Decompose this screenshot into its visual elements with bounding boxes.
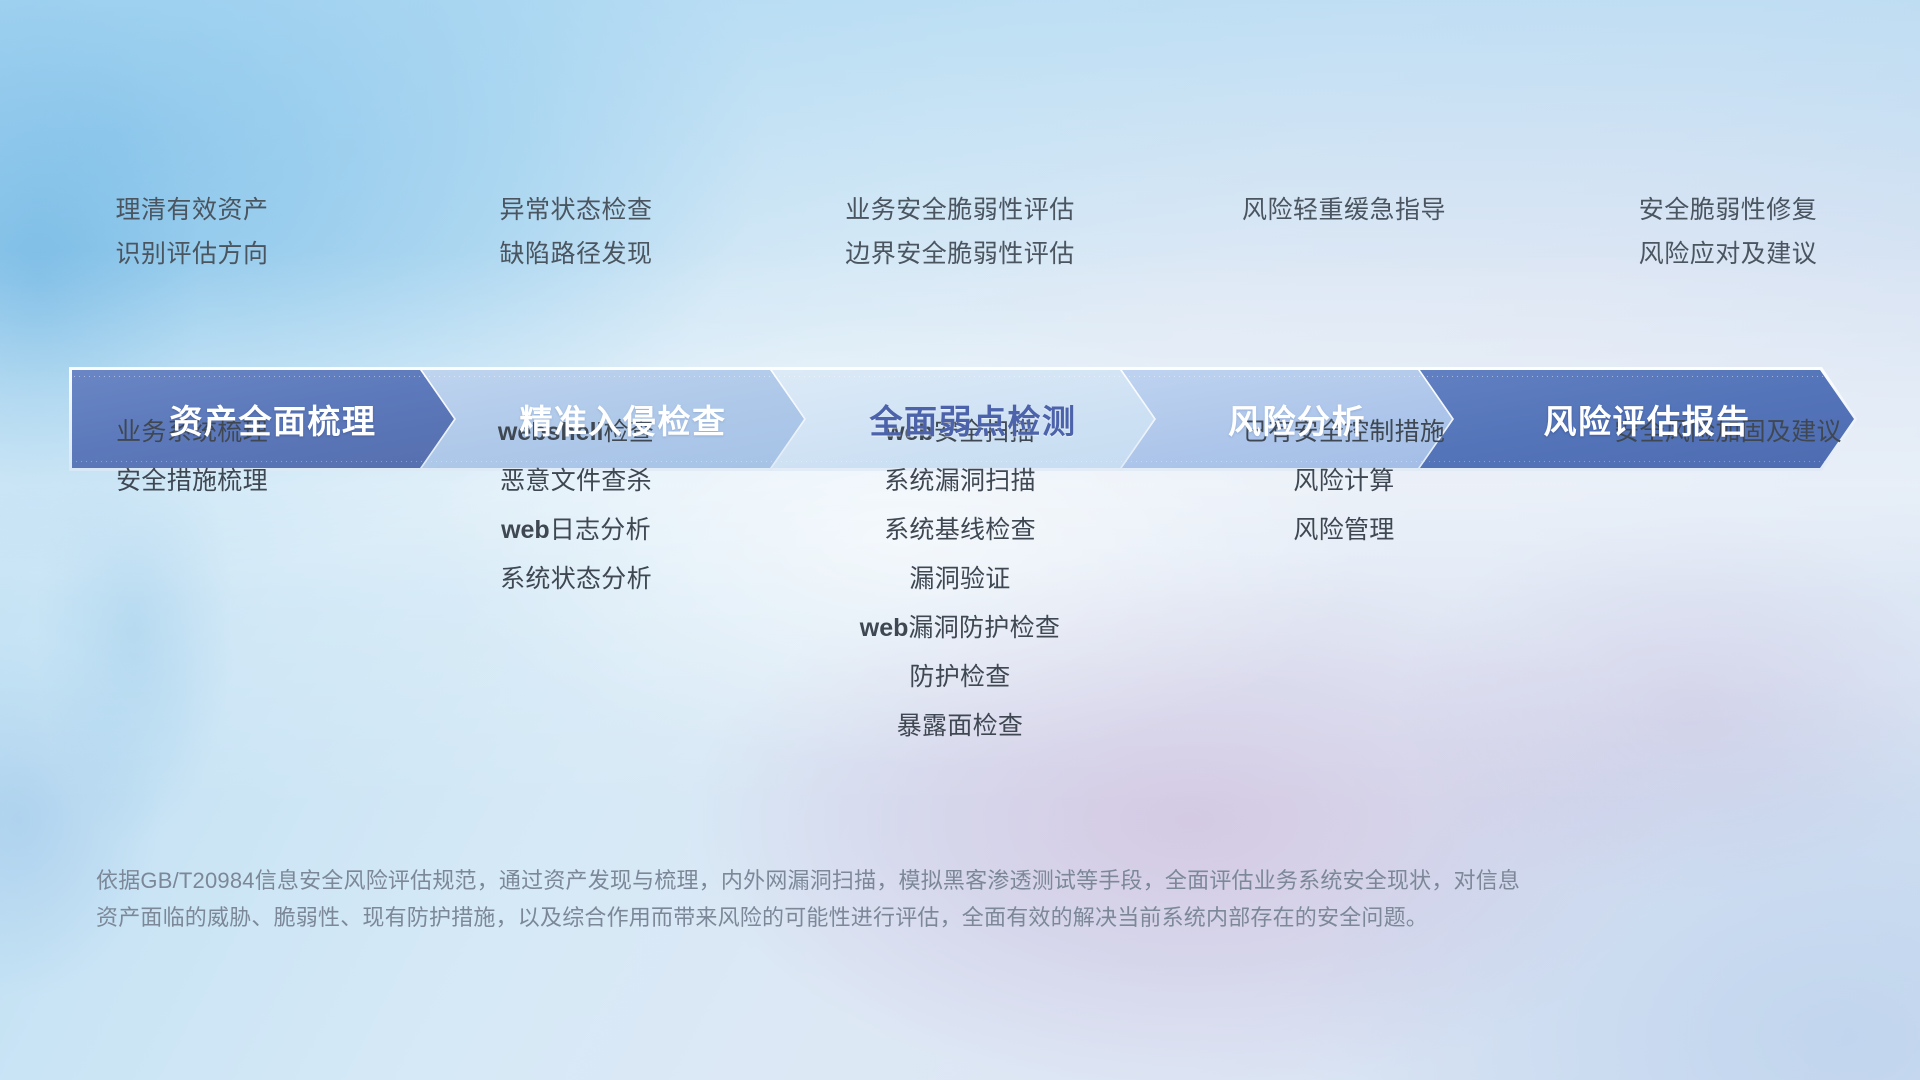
activity-text: 暴露面检查	[768, 702, 1152, 751]
activity-text-cjk: 恶意文件查杀	[500, 467, 652, 495]
activity-text-cjk: 系统漏洞扫描	[884, 467, 1036, 495]
process-step-4-label: 风险分析	[1208, 395, 1366, 443]
outcome-text: 安全脆弱性修复	[1536, 188, 1920, 232]
process-step-5-label: 风险评估报告	[1524, 395, 1751, 443]
activity-text-cjk: 风险计算	[1293, 467, 1394, 495]
activity-text: 风险管理	[1152, 506, 1536, 555]
process-step-2[interactable]: 精准入侵检查	[422, 370, 804, 468]
activity-text-cjk: 漏洞防护检查	[908, 614, 1060, 642]
activity-text: 系统基线检查	[768, 506, 1152, 555]
activity-text-cjk: 暴露面检查	[897, 712, 1024, 740]
process-step-5[interactable]: 风险评估报告	[1420, 370, 1854, 468]
activity-text: 防护检查	[768, 653, 1152, 702]
activity-text-latin: web	[860, 614, 909, 642]
activity-text-cjk: 安全措施梳理	[116, 467, 268, 495]
footer-line-2: 资产面临的威胁、脆弱性、现有防护措施，以及综合作用而带来风险的可能性进行评估，全…	[96, 899, 1596, 936]
outcome-text: 业务安全脆弱性评估	[768, 188, 1152, 232]
process-chevron-band: 资产全面梳理 精准入侵检查 全面弱点检测 风险分析 风险评估报告	[72, 370, 1854, 468]
process-step-3[interactable]: 全面弱点检测	[772, 370, 1154, 468]
activity-text-cjk: 系统状态分析	[500, 565, 652, 593]
activity-text-cjk: 日志分析	[550, 516, 651, 544]
activity-text-cjk: 系统基线检查	[884, 516, 1036, 544]
outcome-text: 风险轻重缓急指导	[1152, 188, 1536, 232]
outcomes-col-step-3: 业务安全脆弱性评估 边界安全脆弱性评估	[768, 188, 1152, 276]
activity-text: 系统状态分析	[384, 555, 768, 604]
outcome-text: 边界安全脆弱性评估	[768, 232, 1152, 276]
activity-text-cjk: 防护检查	[909, 663, 1010, 691]
outcomes-col-step-2: 异常状态检查 缺陷路径发现	[384, 188, 768, 276]
process-step-3-label: 全面弱点检测	[850, 395, 1077, 443]
process-step-1-label: 资产全面梳理	[150, 395, 377, 443]
footer-description: 依据GB/T20984信息安全风险评估规范，通过资产发现与梳理，内外网漏洞扫描，…	[96, 862, 1596, 936]
activity-text: 漏洞验证	[768, 555, 1152, 604]
process-step-4[interactable]: 风险分析	[1122, 370, 1452, 468]
activity-text-cjk: 漏洞验证	[909, 565, 1010, 593]
activity-text: web日志分析	[384, 506, 768, 555]
activity-text-cjk: 风险管理	[1293, 516, 1394, 544]
slide-canvas: 理清有效资产 识别评估方向 异常状态检查 缺陷路径发现 业务安全脆弱性评估 边界…	[0, 0, 1920, 1080]
activity-text-latin: web	[501, 516, 550, 544]
outcomes-col-step-1: 理清有效资产 识别评估方向	[0, 188, 384, 276]
footer-line-1: 依据GB/T20984信息安全风险评估规范，通过资产发现与梳理，内外网漏洞扫描，…	[96, 862, 1596, 899]
outcomes-row-top: 理清有效资产 识别评估方向 异常状态检查 缺陷路径发现 业务安全脆弱性评估 边界…	[0, 188, 1920, 276]
outcomes-col-step-5: 安全脆弱性修复 风险应对及建议	[1536, 188, 1920, 276]
outcome-text: 理清有效资产	[0, 188, 384, 232]
outcome-text: 缺陷路径发现	[384, 232, 768, 276]
outcome-text: 识别评估方向	[0, 232, 384, 276]
activity-text: web漏洞防护检查	[768, 604, 1152, 653]
outcome-text: 异常状态检查	[384, 188, 768, 232]
outcomes-col-step-4: 风险轻重缓急指导	[1152, 188, 1536, 276]
process-step-1[interactable]: 资产全面梳理	[72, 370, 454, 468]
outcome-text: 风险应对及建议	[1536, 232, 1920, 276]
process-step-2-label: 精准入侵检查	[500, 395, 727, 443]
